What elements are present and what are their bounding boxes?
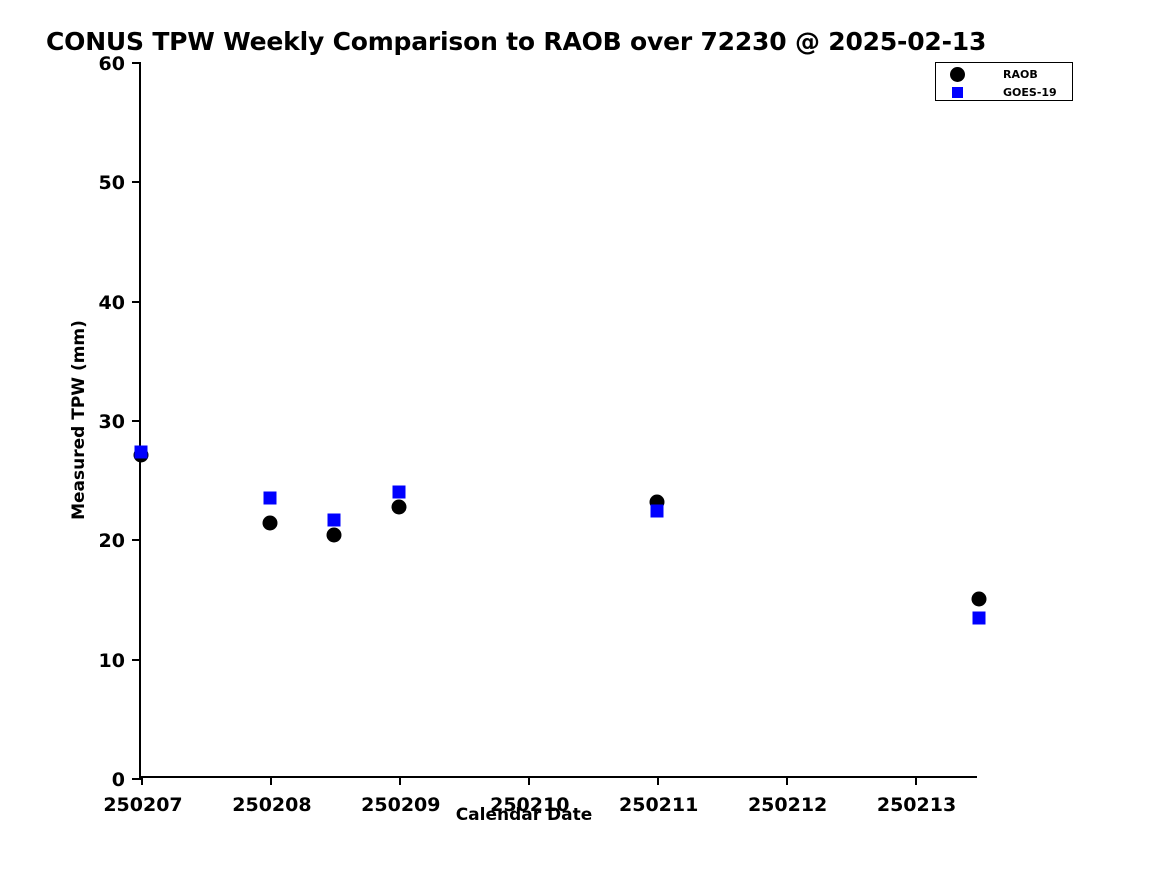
x-axis-tick: 250209	[399, 776, 401, 785]
data-point-raob	[972, 592, 987, 607]
x-axis-tick: 250212	[786, 776, 788, 785]
data-point-goes-19	[263, 491, 276, 504]
y-axis-tick-label: 50	[99, 172, 125, 194]
y-axis-tick-label: 40	[99, 292, 125, 314]
y-axis-title: Measured TPW (mm)	[69, 320, 89, 520]
x-axis-tick-label: 250208	[232, 794, 311, 816]
y-axis-tick-label: 60	[99, 53, 125, 75]
x-axis-tick: 250211	[657, 776, 659, 785]
data-point-goes-19	[135, 446, 148, 459]
data-point-goes-19	[392, 485, 405, 498]
data-point-goes-19	[328, 514, 341, 527]
y-axis-tick-label: 0	[112, 769, 125, 791]
x-axis-tick-label: 250212	[748, 794, 827, 816]
x-axis-tick-label: 250209	[361, 794, 440, 816]
data-point-goes-19	[650, 504, 663, 517]
legend-item-raob: RAOB	[936, 65, 1072, 83]
x-axis-tick-label: 250211	[619, 794, 698, 816]
x-axis-tick-label: 250207	[103, 794, 182, 816]
page-title: CONUS TPW Weekly Comparison to RAOB over…	[46, 27, 986, 56]
x-axis-tick: 250208	[270, 776, 272, 785]
data-point-raob	[391, 500, 406, 515]
data-point-raob	[262, 515, 277, 530]
data-point-goes-19	[973, 612, 986, 625]
y-axis-tick: 40	[132, 301, 141, 303]
x-axis-title: Calendar Date	[456, 805, 593, 825]
x-axis-tick: 250210	[528, 776, 530, 785]
legend-item-label: GOES-19	[1003, 86, 1057, 99]
chart-legend: RAOB GOES-19	[935, 62, 1073, 101]
data-point-raob	[327, 527, 342, 542]
chart-figure: CONUS TPW Weekly Comparison to RAOB over…	[0, 0, 1167, 875]
y-axis-tick: 50	[132, 181, 141, 183]
x-axis-tick-label: 250213	[877, 794, 956, 816]
y-axis-tick-label: 30	[99, 411, 125, 433]
legend-item-goes19: GOES-19	[936, 83, 1072, 101]
plot-area: 0102030405060 25020725020825020925021025…	[139, 62, 977, 778]
y-axis-tick-label: 10	[99, 650, 125, 672]
y-axis-tick: 20	[132, 539, 141, 541]
y-axis-tick-label: 20	[99, 530, 125, 552]
y-axis-tick: 0	[132, 778, 141, 780]
y-axis-tick: 30	[132, 420, 141, 422]
x-axis-tick: 250207	[141, 776, 143, 785]
y-axis-tick: 60	[132, 62, 141, 64]
legend-item-label: RAOB	[1003, 68, 1038, 81]
x-axis-tick: 250213	[915, 776, 917, 785]
legend-circle-marker-icon	[936, 67, 978, 82]
y-axis-tick: 10	[132, 659, 141, 661]
legend-square-marker-icon	[936, 87, 978, 98]
